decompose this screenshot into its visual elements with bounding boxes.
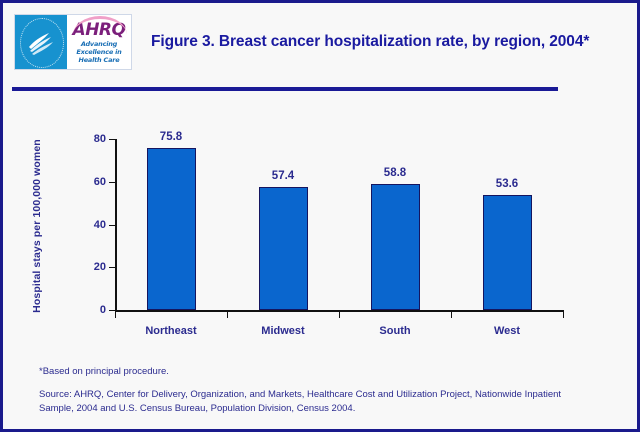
- ahrq-tagline-line3: Health Care: [67, 56, 131, 64]
- x-axis-tick: [451, 312, 452, 318]
- bar-value-label: 53.6: [496, 178, 518, 190]
- y-axis-tick-label: 60: [94, 176, 106, 188]
- ahrq-tagline-line2: Excellence in: [67, 48, 131, 56]
- y-axis-tick: [109, 182, 115, 183]
- bar-value-label: 57.4: [272, 170, 294, 182]
- bar-south: [371, 184, 420, 310]
- figure-notes: *Based on principal procedure. Source: A…: [39, 365, 599, 415]
- y-axis-tick: [109, 310, 115, 311]
- footnote-text: *Based on principal procedure.: [39, 365, 599, 378]
- y-axis-tick-label: 20: [94, 261, 106, 273]
- hhs-seal-icon: [15, 15, 67, 69]
- ahrq-logo: AHRQ Advancing Excellence in Health Care: [14, 14, 132, 70]
- plot-area: 02040608075.8Northeast57.4Midwest58.8Sou…: [115, 139, 563, 311]
- ahrq-tagline-line1: Advancing: [67, 40, 131, 48]
- x-axis-tick: [563, 312, 564, 318]
- bar-value-label: 58.8: [384, 167, 406, 179]
- bar-value-label: 75.8: [160, 131, 182, 143]
- x-axis-category-label: Midwest: [261, 325, 304, 337]
- y-axis-title: Hospital stays per 100,000 women: [31, 126, 43, 326]
- rainbow-arc-icon: [73, 16, 127, 35]
- hhs-bird-icon: [26, 27, 56, 57]
- bar-northeast: [147, 148, 196, 310]
- figure-header: AHRQ Advancing Excellence in Health Care…: [3, 3, 637, 87]
- y-axis-tick-label: 80: [94, 133, 106, 145]
- y-axis-tick-label: 40: [94, 219, 106, 231]
- x-axis-tick: [115, 312, 116, 318]
- y-axis-tick: [109, 139, 115, 140]
- x-axis-tick: [339, 312, 340, 318]
- bar-west: [483, 195, 532, 310]
- x-axis-category-label: West: [494, 325, 520, 337]
- figure-page: AHRQ Advancing Excellence in Health Care…: [0, 0, 640, 432]
- x-axis-tick: [227, 312, 228, 318]
- y-axis-tick-label: 0: [100, 304, 106, 316]
- source-text: Source: AHRQ, Center for Delivery, Organ…: [39, 388, 584, 415]
- page-title: Figure 3. Breast cancer hospitalization …: [151, 33, 589, 51]
- y-axis-line: [115, 139, 117, 312]
- bar-chart: Hospital stays per 100,000 women 0204060…: [3, 95, 637, 345]
- bar-midwest: [259, 187, 308, 310]
- header-divider: [12, 87, 558, 91]
- y-axis-tick: [109, 225, 115, 226]
- x-axis-category-label: Northeast: [145, 325, 196, 337]
- y-axis-tick: [109, 267, 115, 268]
- x-axis-category-label: South: [379, 325, 410, 337]
- ahrq-wordmark: AHRQ Advancing Excellence in Health Care: [67, 15, 131, 69]
